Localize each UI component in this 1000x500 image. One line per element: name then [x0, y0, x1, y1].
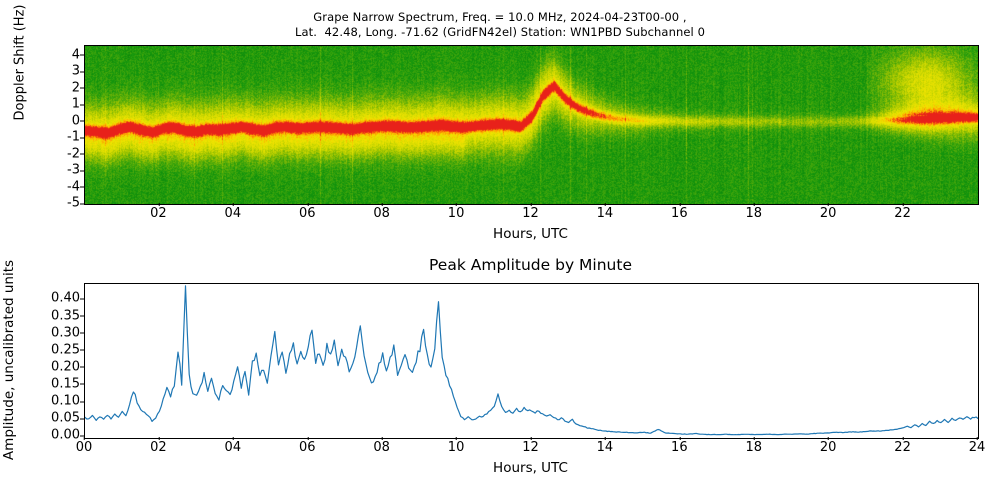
amplitude-x-axis-label: Hours, UTC — [84, 460, 977, 476]
tick-mark — [84, 437, 85, 441]
amplitude-polyline — [85, 286, 978, 435]
tick-mark — [679, 203, 680, 207]
tick-mark — [754, 203, 755, 207]
spectrogram-y-tick-label: -3 — [40, 163, 80, 178]
spectrogram-y-tick-label: -5 — [40, 196, 80, 211]
amplitude-x-ticks: 00020406081012141618202224 — [84, 440, 977, 460]
spectrogram-x-ticks: 0204060810121416182022 — [84, 206, 977, 226]
amplitude-x-tick-label: 18 — [745, 440, 762, 455]
tick-mark — [754, 437, 755, 441]
tick-mark — [80, 104, 84, 105]
tick-mark — [158, 437, 159, 441]
amplitude-y-tick-label: 0.05 — [34, 411, 80, 426]
tick-mark — [80, 88, 84, 89]
spectrogram-x-tick-label: 12 — [522, 206, 539, 221]
tick-mark — [530, 203, 531, 207]
spectrogram-y-tick-label: -4 — [40, 179, 80, 194]
amplitude-plot-title: Peak Amplitude by Minute — [84, 256, 977, 274]
tick-mark — [80, 203, 84, 204]
tick-mark — [903, 203, 904, 207]
suptitle-line-1: Grape Narrow Spectrum, Freq. = 10.0 MHz,… — [0, 10, 1000, 25]
spectrogram-y-axis-label: Doppler Shift (Hz) — [13, 0, 28, 138]
tick-mark — [80, 418, 84, 419]
spectrogram-x-tick-label: 06 — [299, 206, 316, 221]
amplitude-y-tick-label: 0.10 — [34, 394, 80, 409]
spectrogram-y-tick-label: -2 — [40, 146, 80, 161]
amplitude-y-tick-label: 0.15 — [34, 376, 80, 391]
spectrogram-x-tick-label: 10 — [448, 206, 465, 221]
spectrogram-y-ticks: 43210-1-2-3-4-5 — [38, 45, 80, 203]
amplitude-x-tick-label: 00 — [76, 440, 93, 455]
amplitude-y-ticks: 0.000.050.100.150.200.250.300.350.40 — [34, 283, 80, 437]
spectrogram-x-tick-label: 04 — [225, 206, 242, 221]
spectrogram-y-tick-label: -1 — [40, 130, 80, 145]
figure-suptitle: Grape Narrow Spectrum, Freq. = 10.0 MHz,… — [0, 10, 1000, 40]
tick-mark — [80, 154, 84, 155]
spectrogram-x-tick-label: 16 — [671, 206, 688, 221]
amplitude-y-axis-label-text: Amplitude, uncalibrated units — [1, 260, 17, 460]
amplitude-x-tick-label: 10 — [448, 440, 465, 455]
spectrogram-y-tick-label: 1 — [40, 97, 80, 112]
tick-mark — [382, 203, 383, 207]
spectrogram-y-tick-label: 3 — [40, 64, 80, 79]
spectrogram-x-tick-label: 20 — [820, 206, 837, 221]
tick-mark — [679, 437, 680, 441]
amplitude-y-axis-label: Amplitude, uncalibrated units — [0, 254, 18, 466]
tick-mark — [80, 298, 84, 299]
amplitude-y-tick-label: 0.25 — [34, 342, 80, 357]
tick-mark — [828, 203, 829, 207]
tick-mark — [80, 367, 84, 368]
amplitude-plot-area — [84, 283, 979, 439]
amplitude-x-tick-label: 14 — [597, 440, 614, 455]
tick-mark — [80, 350, 84, 351]
spectrogram-x-tick-label: 22 — [894, 206, 911, 221]
tick-mark — [80, 137, 84, 138]
tick-mark — [80, 401, 84, 402]
spectrogram-x-tick-label: 18 — [745, 206, 762, 221]
amplitude-y-tick-label: 0.40 — [34, 291, 80, 306]
tick-mark — [80, 316, 84, 317]
tick-mark — [80, 333, 84, 334]
spectrogram-plot-area — [84, 45, 979, 205]
tick-mark — [977, 437, 978, 441]
tick-mark — [80, 435, 84, 436]
amplitude-line-series — [85, 284, 978, 438]
tick-mark — [530, 437, 531, 441]
amplitude-x-tick-label: 06 — [299, 440, 316, 455]
tick-mark — [80, 71, 84, 72]
amplitude-x-tick-label: 20 — [820, 440, 837, 455]
spectrogram-y-tick-label: 2 — [40, 80, 80, 95]
tick-mark — [382, 437, 383, 441]
amplitude-x-tick-label: 22 — [894, 440, 911, 455]
amplitude-x-tick-label: 04 — [225, 440, 242, 455]
tick-mark — [903, 437, 904, 441]
spectrogram-image — [85, 46, 978, 204]
tick-mark — [233, 203, 234, 207]
tick-mark — [456, 203, 457, 207]
spectrogram-x-tick-label: 08 — [373, 206, 390, 221]
amplitude-y-tick-label: 0.35 — [34, 308, 80, 323]
tick-mark — [158, 203, 159, 207]
amplitude-y-tick-label: 0.20 — [34, 359, 80, 374]
amplitude-x-tick-label: 16 — [671, 440, 688, 455]
tick-mark — [80, 187, 84, 188]
suptitle-line-2: Lat. 42.48, Long. -71.62 (GridFN42el) St… — [0, 25, 1000, 40]
tick-mark — [80, 121, 84, 122]
spectrogram-x-axis-label: Hours, UTC — [84, 226, 977, 242]
tick-mark — [80, 384, 84, 385]
amplitude-x-tick-label: 02 — [150, 440, 167, 455]
tick-mark — [828, 437, 829, 441]
spectrogram-x-tick-label: 02 — [150, 206, 167, 221]
tick-mark — [456, 437, 457, 441]
spectrogram-y-tick-label: 4 — [40, 47, 80, 62]
amplitude-x-tick-label: 08 — [373, 440, 390, 455]
amplitude-x-tick-label: 24 — [969, 440, 986, 455]
amplitude-x-tick-label: 12 — [522, 440, 539, 455]
spectrogram-y-tick-label: 0 — [40, 113, 80, 128]
tick-mark — [307, 203, 308, 207]
spectrogram-x-tick-label: 14 — [597, 206, 614, 221]
tick-mark — [233, 437, 234, 441]
tick-mark — [307, 437, 308, 441]
tick-mark — [80, 55, 84, 56]
tick-mark — [605, 203, 606, 207]
amplitude-y-tick-label: 0.30 — [34, 325, 80, 340]
amplitude-y-tick-label: 0.00 — [34, 428, 80, 443]
tick-mark — [605, 437, 606, 441]
tick-mark — [80, 170, 84, 171]
